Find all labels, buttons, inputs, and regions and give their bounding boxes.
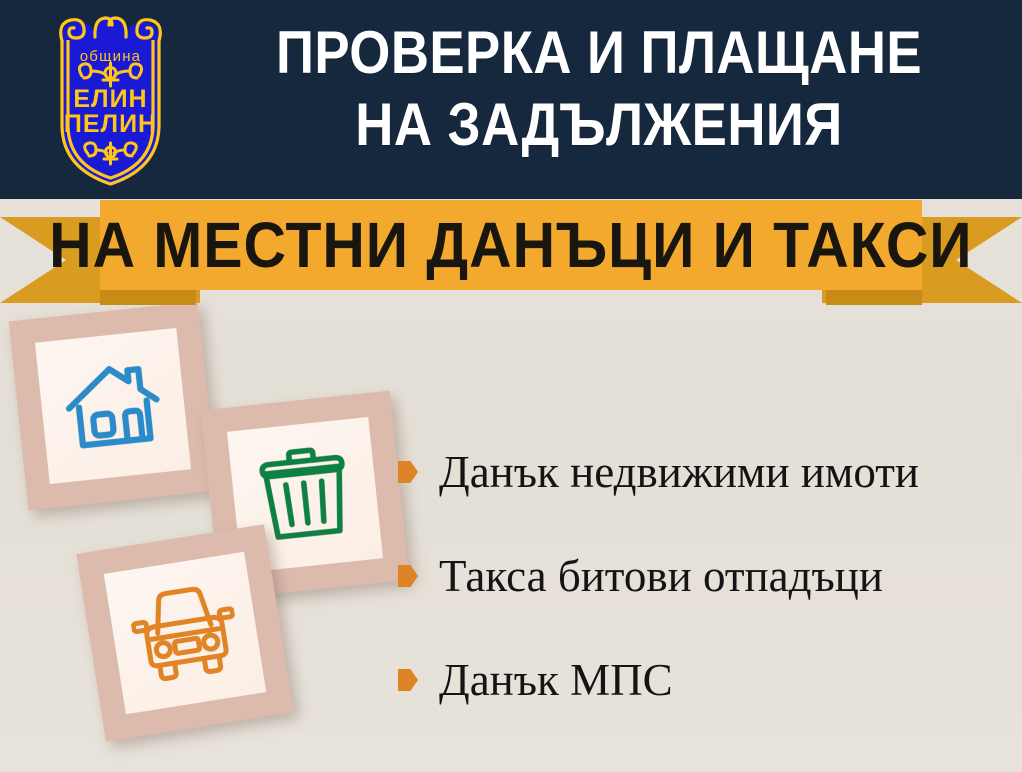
ribbon-banner: НА МЕСТНИ ДАНЪЦИ И ТАКСИ (0, 196, 1022, 308)
ribbon-fold-right (826, 289, 922, 305)
list-item-label: Такса битови отпадъци (439, 551, 883, 601)
arrow-right-bullet-icon (398, 565, 418, 587)
tax-type-list: Данък недвижими имоти Такса битови отпад… (398, 420, 1018, 732)
stamp-card-vehicle (76, 524, 293, 741)
stamp-collage (0, 295, 420, 772)
ribbon-label: НА МЕСТНИ ДАНЪЦИ И ТАКСИ (49, 213, 972, 277)
ribbon-body: НА МЕСТНИ ДАНЪЦИ И ТАКСИ (100, 200, 922, 290)
list-item: Данък недвижими имоти (398, 420, 1018, 524)
arrow-right-bullet-icon (398, 461, 418, 483)
poster-canvas: община ЕЛИН ПЕЛИН (0, 0, 1022, 772)
arrow-right-bullet-icon (398, 669, 418, 691)
page-title: ПРОВЕРКА И ПЛАЩАНЕ НА ЗАДЪЛЖЕНИЯ (185, 17, 1013, 161)
list-item: Такса битови отпадъци (398, 524, 1018, 628)
page-title-line-2: НА ЗАДЪЛЖЕНИЯ (235, 89, 964, 161)
list-item-label: Данък МПС (439, 655, 673, 705)
stamp-paper (104, 552, 266, 714)
stamp-paper (35, 328, 191, 484)
page-title-line-1: ПРОВЕРКА И ПЛАЩАНЕ (235, 17, 964, 89)
list-item-label: Данък недвижими имоти (439, 447, 919, 497)
trash-can-icon (250, 440, 360, 550)
crest-label-line2: ПЕЛИН (64, 110, 157, 138)
stamp-card-property (9, 302, 218, 511)
list-item: Данък МПС (398, 628, 1018, 732)
car-icon (126, 577, 244, 688)
coat-of-arms-icon: община ЕЛИН ПЕЛИН (38, 8, 183, 190)
crest-label-line1: ЕЛИН (73, 85, 147, 113)
ribbon-fold-left (100, 289, 196, 305)
house-icon (56, 349, 170, 463)
